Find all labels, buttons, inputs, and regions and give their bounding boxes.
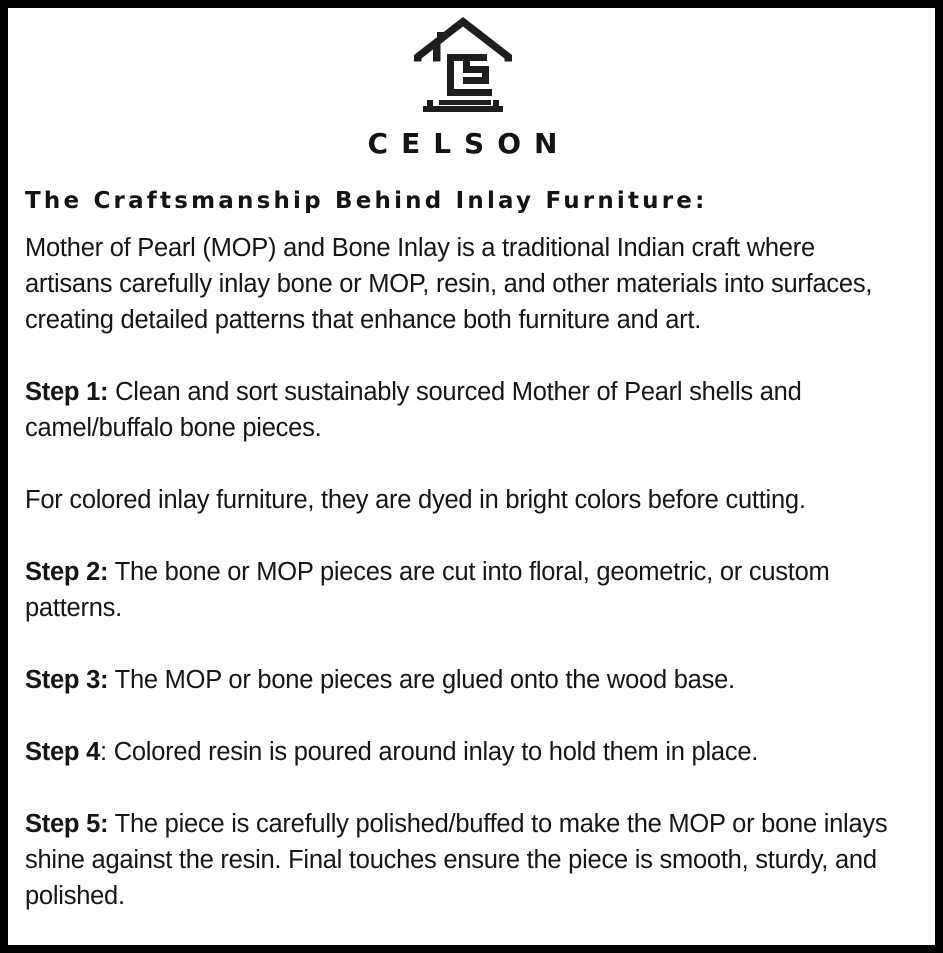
paragraph-step-3: Step 3: The MOP or bone pieces are glued…: [25, 662, 909, 698]
paragraph-step-4: Step 4: Colored resin is poured around i…: [25, 734, 909, 770]
poster-content: CELSON The Craftsmanship Behind Inlay Fu…: [8, 8, 935, 945]
paragraph-text: Clean and sort sustainably sourced Mothe…: [25, 378, 802, 442]
paragraph-lead: Step 1:: [25, 378, 108, 406]
paragraph-step-1: Step 1: Clean and sort sustainably sourc…: [25, 374, 909, 446]
paragraph-text: For colored inlay furniture, they are dy…: [25, 486, 806, 514]
paragraph-lead: Step 4: [25, 738, 100, 766]
paragraph-text: Mother of Pearl (MOP) and Bone Inlay is …: [25, 234, 872, 334]
paragraph-lead: Step 5:: [25, 810, 108, 838]
paragraph-text: : Colored resin is poured around inlay t…: [100, 738, 758, 766]
body-copy: Mother of Pearl (MOP) and Bone Inlay is …: [25, 216, 909, 914]
paragraph-dye-note: For colored inlay furniture, they are dy…: [25, 482, 909, 518]
paragraph-step-5: Step 5: The piece is carefully polished/…: [25, 806, 909, 914]
paragraph-text: The piece is carefully polished/buffed t…: [25, 810, 887, 910]
paragraph-lead: Step 2:: [25, 558, 108, 586]
brand-block: CELSON: [16, 12, 909, 158]
poster-frame: CELSON The Craftsmanship Behind Inlay Fu…: [0, 0, 943, 953]
brand-wordmark: CELSON: [16, 130, 909, 158]
paragraph-text: The MOP or bone pieces are glued onto th…: [108, 666, 735, 694]
house-monogram-logo-icon: [411, 14, 515, 116]
page-title: The Craftsmanship Behind Inlay Furniture…: [25, 188, 909, 216]
paragraph-step-2: Step 2: The bone or MOP pieces are cut i…: [25, 554, 909, 626]
paragraph-intro: Mother of Pearl (MOP) and Bone Inlay is …: [25, 230, 909, 338]
paragraph-text: The bone or MOP pieces are cut into flor…: [25, 558, 830, 622]
paragraph-lead: Step 3:: [25, 666, 108, 694]
